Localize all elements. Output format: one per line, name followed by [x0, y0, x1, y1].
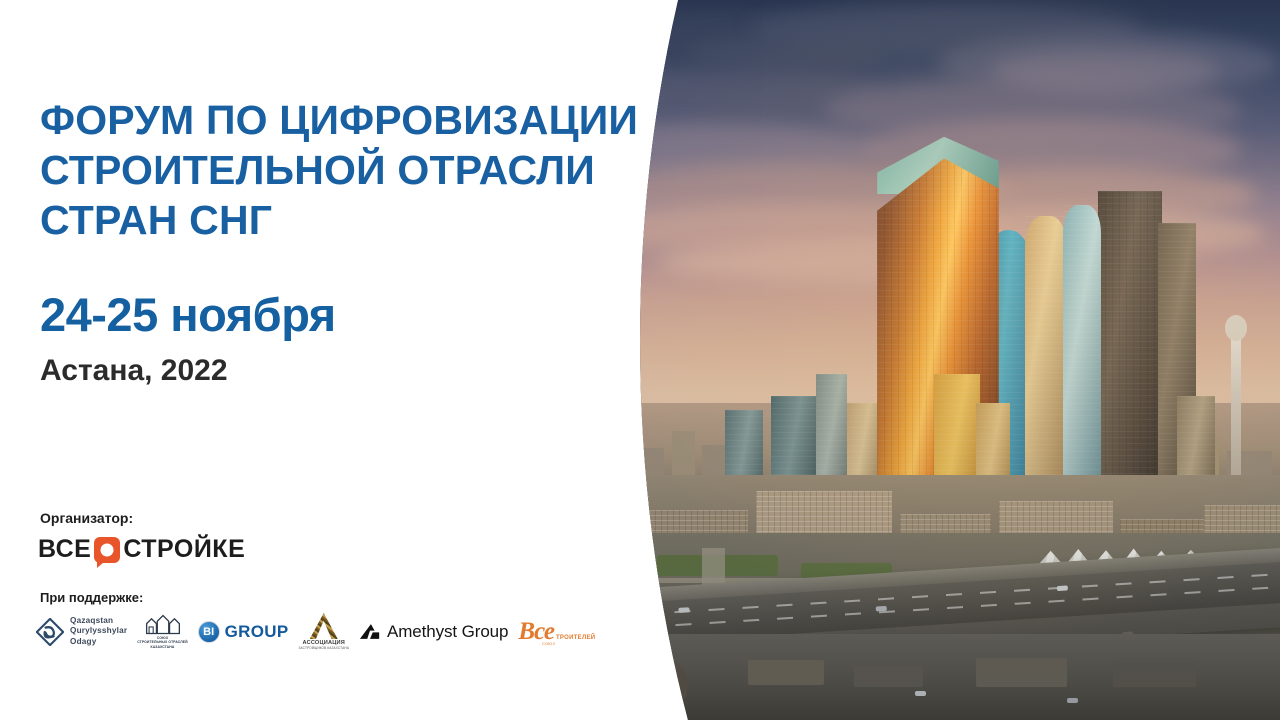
diamond-knot-icon	[36, 618, 64, 646]
sponsor-1-line2: Qurylysshylar	[70, 626, 127, 637]
sponsor-1-line1: Qazaqstan	[70, 616, 127, 627]
speech-bubble-icon	[94, 537, 120, 563]
sponsor-logo-row: Qazaqstan Qurylysshylar Odagy СОЮЗ СТРОИ…	[36, 613, 595, 650]
organizer-logo-part2: СТРОЙКЕ	[123, 535, 245, 564]
left-content-column: ФОРУМ ПО ЦИФРОВИЗАЦИИ СТРОИТЕЛЬНОЙ ОТРАС…	[0, 0, 700, 720]
event-city: Астана, 2022	[40, 354, 700, 388]
sponsor-3-word: GROUP	[225, 622, 289, 642]
sponsor-amethyst-group[interactable]: Amethyst Group	[359, 622, 508, 642]
houses-outline-icon	[145, 614, 179, 634]
sponsor-soyuz-stroitelnyh-otrasley[interactable]: СОЮЗ СТРОИТЕЛЬНЫХ ОТРАСЛЕЙ КАЗАХСТАНА	[137, 614, 187, 650]
sponsor-bi-group[interactable]: BI GROUP	[198, 621, 289, 643]
support-label: При поддержке:	[40, 590, 143, 605]
sponsor-1-text: Qazaqstan Qurylysshylar Odagy	[70, 616, 127, 648]
bubble-circle-icon	[101, 543, 114, 556]
gold-letter-a-icon	[310, 613, 338, 639]
organizer-logo-vse-o-stroyke[interactable]: ВСЕ СТРОЙКЕ	[38, 535, 245, 564]
sponsor-6-line2: СОЮЗ	[542, 641, 595, 646]
organizer-logo-part1: ВСЕ	[38, 535, 91, 564]
sponsor-2-line3: КАЗАХСТАНА	[137, 645, 187, 650]
sponsor-2-text: СОЮЗ СТРОИТЕЛЬНЫХ ОТРАСЛЕЙ КАЗАХСТАНА	[137, 636, 187, 650]
bi-circle-badge-icon: BI	[198, 621, 220, 643]
sponsor-soyuz-stroiteley[interactable]: Все ТРОИТЕЛЕЙ СОЮЗ	[518, 618, 595, 646]
sponsor-assotsiatsiya[interactable]: АССОЦИАЦИЯ ЗАСТРОЙЩИКОВ КАЗАХСТАНА	[299, 613, 349, 650]
sponsor-4-line2: ЗАСТРОЙЩИКОВ КАЗАХСТАНА	[299, 646, 349, 650]
sponsor-qazaqstan-qurylysshylar-odagy[interactable]: Qazaqstan Qurylysshylar Odagy	[36, 616, 127, 648]
sponsor-1-line3: Odagy	[70, 637, 127, 648]
page-title: ФОРУМ ПО ЦИФРОВИЗАЦИИ СТРОИТЕЛЬНОЙ ОТРАС…	[40, 95, 700, 245]
sponsor-6-text: ТРОИТЕЛЕЙ СОЮЗ	[556, 635, 595, 646]
amethyst-arrow-icon	[359, 623, 381, 640]
sponsor-5-word: Amethyst Group	[387, 622, 508, 642]
organizer-label: Организатор:	[40, 510, 133, 526]
event-date: 24-25 ноября	[40, 287, 700, 342]
